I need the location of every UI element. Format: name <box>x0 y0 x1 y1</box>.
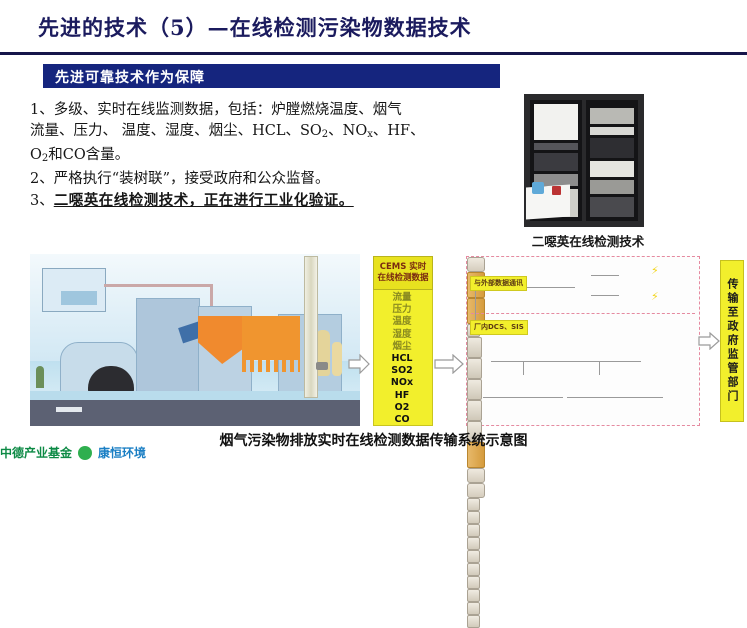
network-bus-line <box>491 361 641 362</box>
cems-param-co: CO <box>373 414 431 426</box>
section-bar-accent <box>25 64 39 88</box>
system-diagram: CEMS 实时 在线检测数据 流量 压力 温度 湿度 烟尘 HCL SO2 NO… <box>30 254 740 426</box>
network-access-bus-2 <box>567 397 663 398</box>
network-endpoint-2 <box>467 511 480 524</box>
network-server-main <box>467 337 482 358</box>
plant-tree <box>36 366 44 388</box>
network-switch-1 <box>467 468 485 483</box>
title-divider <box>0 52 747 55</box>
photo-panel-module-8 <box>590 197 634 217</box>
logo-kanghen-environment-text: 康恒环境 <box>98 444 146 461</box>
network-endpoint-7 <box>467 576 480 589</box>
photo-panel-strip-1 <box>534 143 578 150</box>
cems-param-so2: SO2 <box>373 365 431 377</box>
network-drop-2 <box>599 361 600 375</box>
body-line-1b-pre: 流量、压力、 温度、湿度、烟尘、HCL、SO <box>30 123 322 139</box>
network-label-external-comms: 与外部数据通讯 <box>470 276 527 291</box>
body-line-1c-pre: O <box>30 147 42 163</box>
cems-header-line1: CEMS 实时 <box>380 262 427 273</box>
plant-baghouse <box>242 316 300 360</box>
cems-param-temperature: 温度 <box>373 316 431 328</box>
network-switch-2 <box>467 483 485 498</box>
cems-param-hcl: HCL <box>373 353 431 365</box>
network-endpoint-4 <box>467 537 480 550</box>
photo-panel-display <box>534 104 578 140</box>
photo-panel-module-6 <box>590 161 634 177</box>
section-header-bar: 先进可靠技术作为保障 <box>43 64 500 88</box>
stack-sampling-probe <box>316 362 328 370</box>
plant-outfall-pipe <box>56 407 82 412</box>
photo-panel-strip-2 <box>590 127 634 135</box>
logo-china-germany-fund-text: 中德产业基金 <box>0 444 72 461</box>
photo-panel-module-4 <box>590 108 634 124</box>
network-label-plant-dcs-sis: 厂内DCS、SIS <box>470 320 528 335</box>
network-endpoint-10 <box>467 615 480 628</box>
network-endpoint-9 <box>467 602 480 615</box>
equipment-photo-caption: 二噁英在线检测技术 <box>508 231 668 250</box>
arrow-stack-to-cems <box>348 354 370 374</box>
network-endpoint-8 <box>467 589 480 602</box>
page-title-text: 先进的技术（5）—在线检测污染物数据技术 <box>38 12 472 42</box>
cems-param-pressure: 压力 <box>373 304 431 316</box>
arrow-cems-to-network <box>434 354 464 374</box>
photo-panel-module-1 <box>534 153 578 171</box>
network-endpoint-5 <box>467 550 480 563</box>
body-line-3-emphasis: 二噁英在线检测技术，正在进行工业化验证。 <box>54 192 354 209</box>
body-line-1c-post: 和CO含量。 <box>48 147 129 163</box>
body-line-1b-mid: 、NO <box>328 123 367 139</box>
government-transmission-box: 传输至政府监管部门 <box>720 260 744 422</box>
body-line-1c: O2和CO含量。 <box>30 145 500 169</box>
network-router-icon <box>467 257 485 272</box>
network-endpoint-6 <box>467 563 480 576</box>
cems-header: CEMS 实时 在线检测数据 <box>373 256 433 290</box>
cems-param-flow: 流量 <box>373 292 431 304</box>
network-zone-divider <box>471 313 695 314</box>
wireless-bolt-icon-2: ⚡ <box>651 291 659 302</box>
cems-param-humidity: 湿度 <box>373 329 431 341</box>
body-line-1b: 流量、压力、 温度、湿度、烟尘、HCL、SO2、NOx、HF、 <box>30 121 500 145</box>
body-line-1b-post: 、HF、 <box>373 123 425 139</box>
cems-param-dust: 烟尘 <box>373 341 431 353</box>
cems-param-o2: O2 <box>373 402 431 414</box>
plant-baghouse-hoppers <box>242 358 300 372</box>
photo-bench-item-red <box>552 186 561 195</box>
network-endpoint-1 <box>467 498 480 511</box>
cems-param-nox: NOx <box>373 377 431 389</box>
cems-header-line2: 在线检测数据 <box>377 273 428 284</box>
government-transmission-label: 传输至政府监管部门 <box>724 278 740 404</box>
network-drop-1 <box>523 361 524 375</box>
network-link-ext-right-2 <box>591 295 619 296</box>
cems-param-hf: HF <box>373 390 431 402</box>
body-text-block: 1、多级、实时在线监测数据，包括：炉膛燃烧温度、烟气 流量、压力、 温度、湿度、… <box>30 100 500 212</box>
photo-panel-module-7 <box>590 180 634 194</box>
network-server-3 <box>467 379 482 400</box>
equipment-photo <box>524 94 644 227</box>
photo-panel-module-5 <box>590 138 634 158</box>
network-access-bus-1 <box>483 397 563 398</box>
network-endpoint-3 <box>467 524 480 537</box>
plant-inset-detail <box>61 291 97 305</box>
plant-silo-2 <box>332 342 342 376</box>
network-server-4 <box>467 400 482 421</box>
arrow-network-to-government <box>698 332 720 350</box>
network-link-ext-right-1 <box>591 275 619 276</box>
wireless-bolt-icon-1: ⚡ <box>651 265 659 276</box>
footer-logo-strip: 中德产业基金 康恒环境 <box>0 444 230 461</box>
network-server-2 <box>467 358 482 379</box>
plant-inset-box <box>42 268 106 312</box>
photo-bench-item-blue <box>532 182 544 194</box>
body-line-1a: 1、多级、实时在线监测数据，包括：炉膛燃烧温度、烟气 <box>30 100 500 121</box>
logo-kanghen-mark-icon <box>78 446 92 460</box>
body-line-2: 2、严格执行“装树联”，接受政府和公众监督。 <box>30 169 500 190</box>
body-line-3: 3、二噁英在线检测技术，正在进行工业化验证。 <box>30 190 500 212</box>
plant-pipeline-horizontal <box>104 284 212 287</box>
body-line-3-number: 3、 <box>30 193 54 209</box>
section-header-label: 先进可靠技术作为保障 <box>55 67 205 87</box>
plant-stack <box>304 256 318 398</box>
plant-ground <box>30 400 360 426</box>
cems-parameter-list: 流量 压力 温度 湿度 烟尘 HCL SO2 NOx HF O2 CO <box>373 292 431 426</box>
plant-building-main <box>136 298 200 392</box>
page-title: 先进的技术（5）—在线检测污染物数据技术 <box>0 8 747 48</box>
